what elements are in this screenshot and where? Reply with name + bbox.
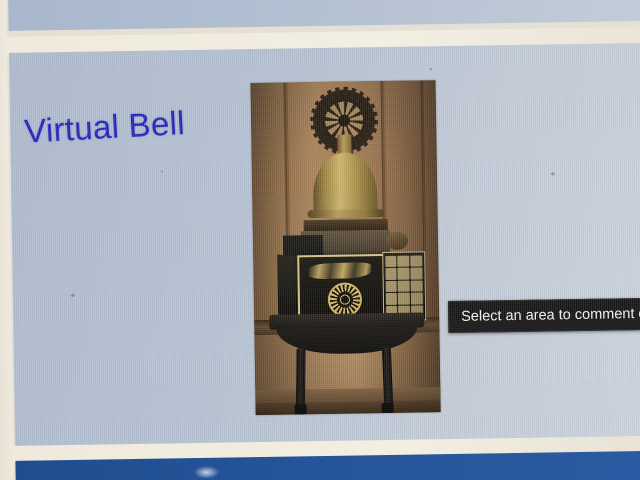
plaque-script-text (308, 262, 372, 279)
bell-photo-content (250, 80, 440, 415)
engraved-plaque (298, 254, 386, 322)
bell-base (303, 219, 387, 231)
table-leg-foot (295, 404, 307, 414)
previous-slide-strip[interactable] (8, 0, 640, 31)
comment-tooltip: Select an area to comment on (448, 298, 640, 333)
dust-speck (71, 294, 75, 297)
slide-title: Virtual Bell (23, 104, 186, 151)
screenshot-root: Virtual Bell (0, 0, 640, 480)
baseboard (256, 401, 441, 416)
dust-speck (551, 172, 555, 175)
bell-lip (307, 209, 383, 218)
rotary-gear-hub (338, 115, 350, 127)
name-plate-panel (382, 251, 426, 321)
dust-speck (429, 68, 432, 70)
table-leg-foot (382, 403, 394, 413)
current-slide[interactable]: Virtual Bell (9, 43, 640, 448)
dust-speck (161, 170, 163, 172)
bell-photo[interactable] (250, 80, 440, 415)
rotary-wheel-emblem-icon (330, 284, 360, 314)
monitor-screen: Virtual Bell (0, 0, 640, 480)
